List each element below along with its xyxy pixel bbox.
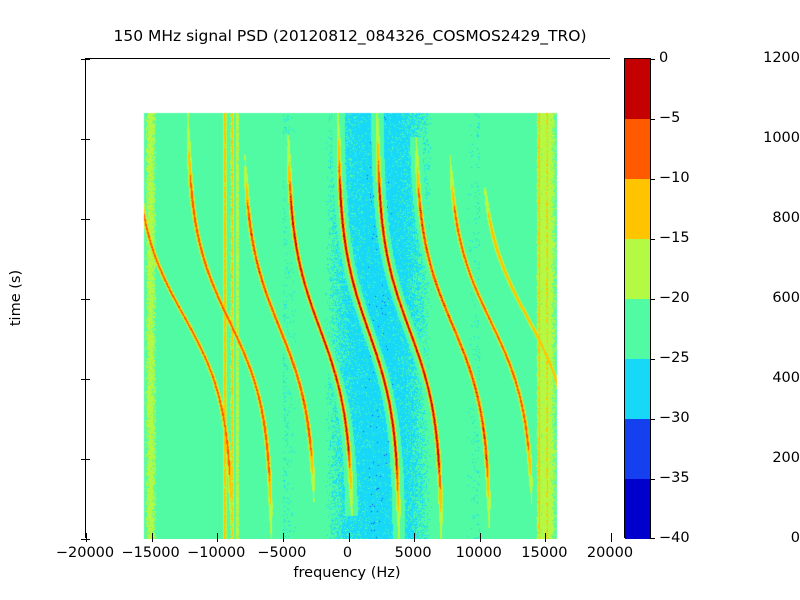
x-tick-mark [152, 533, 153, 537]
x-tick-mark [349, 533, 350, 537]
colorbar-tick-label: −5 [659, 110, 680, 126]
colorbar-tick-mark [650, 179, 655, 180]
colorbar-tick-mark [650, 119, 655, 120]
y-tick-label: 1000 [724, 130, 800, 146]
x-tick-mark [611, 537, 612, 542]
y-tick-mark [86, 59, 90, 60]
x-tick-mark [283, 533, 284, 537]
y-tick-label: 800 [724, 210, 800, 226]
x-tick-label: 5000 [395, 545, 432, 561]
colorbar-tick-label: −15 [659, 230, 690, 246]
y-tick-label: 400 [724, 370, 800, 386]
y-axis-label: time (s) [8, 270, 24, 326]
colorbar-band [625, 239, 650, 299]
colorbar-band [625, 299, 650, 359]
x-tick-mark [349, 537, 350, 542]
colorbar-tick-label: −20 [659, 290, 690, 306]
colorbar-tick-label: −10 [659, 170, 690, 186]
y-tick-label: 1200 [724, 50, 800, 66]
colorbar-tick-mark [650, 59, 655, 60]
x-tick-mark [545, 537, 546, 542]
x-tick-label: −10000 [187, 545, 245, 561]
spectrogram-axes [85, 58, 610, 538]
chart-title: 150 MHz signal PSD (20120812_084326_COSM… [0, 27, 700, 45]
x-tick-mark [86, 533, 87, 537]
colorbar-tick-label: −40 [659, 530, 690, 546]
colorbar-tick-label: −30 [659, 410, 690, 426]
x-tick-mark [152, 537, 153, 542]
x-tick-label: −20000 [56, 545, 114, 561]
spectrogram-image [86, 59, 611, 539]
x-tick-label: −15000 [121, 545, 179, 561]
y-tick-mark [86, 219, 90, 220]
x-tick-label: 20000 [587, 545, 633, 561]
colorbar-band [625, 359, 650, 419]
x-tick-mark [86, 537, 87, 542]
x-tick-label: 10000 [456, 545, 502, 561]
y-tick-mark [86, 139, 90, 140]
colorbar-band [625, 179, 650, 239]
colorbar-tick-mark [650, 479, 655, 480]
colorbar-tick-mark [650, 538, 655, 539]
y-tick-label: 0 [724, 530, 800, 546]
x-tick-mark [283, 537, 284, 542]
x-tick-mark [611, 533, 612, 537]
x-tick-mark [480, 533, 481, 537]
colorbar-tick-mark [650, 419, 655, 420]
x-axis-label: frequency (Hz) [293, 565, 400, 581]
colorbar-band [625, 419, 650, 479]
colorbar-tick-mark [650, 239, 655, 240]
y-tick-label: 200 [724, 450, 800, 466]
colorbar-band [625, 479, 650, 539]
x-tick-mark [545, 533, 546, 537]
x-tick-mark [217, 537, 218, 542]
y-tick-label: 600 [724, 290, 800, 306]
colorbar-band [625, 59, 650, 119]
x-tick-mark [414, 537, 415, 542]
x-tick-label: 0 [343, 545, 352, 561]
x-tick-mark [414, 533, 415, 537]
colorbar-tick-label: −25 [659, 350, 690, 366]
x-tick-mark [217, 533, 218, 537]
colorbar-tick-label: 0 [659, 50, 668, 66]
y-tick-mark [86, 459, 90, 460]
colorbar [624, 58, 651, 538]
x-tick-mark [480, 537, 481, 542]
y-tick-mark [86, 379, 90, 380]
colorbar-tick-label: −35 [659, 470, 690, 486]
x-tick-label: −5000 [257, 545, 306, 561]
x-tick-label: 15000 [521, 545, 567, 561]
colorbar-band [625, 119, 650, 179]
figure-canvas: 150 MHz signal PSD (20120812_084326_COSM… [0, 0, 800, 600]
colorbar-tick-mark [650, 299, 655, 300]
colorbar-tick-mark [650, 359, 655, 360]
y-tick-mark [86, 299, 90, 300]
